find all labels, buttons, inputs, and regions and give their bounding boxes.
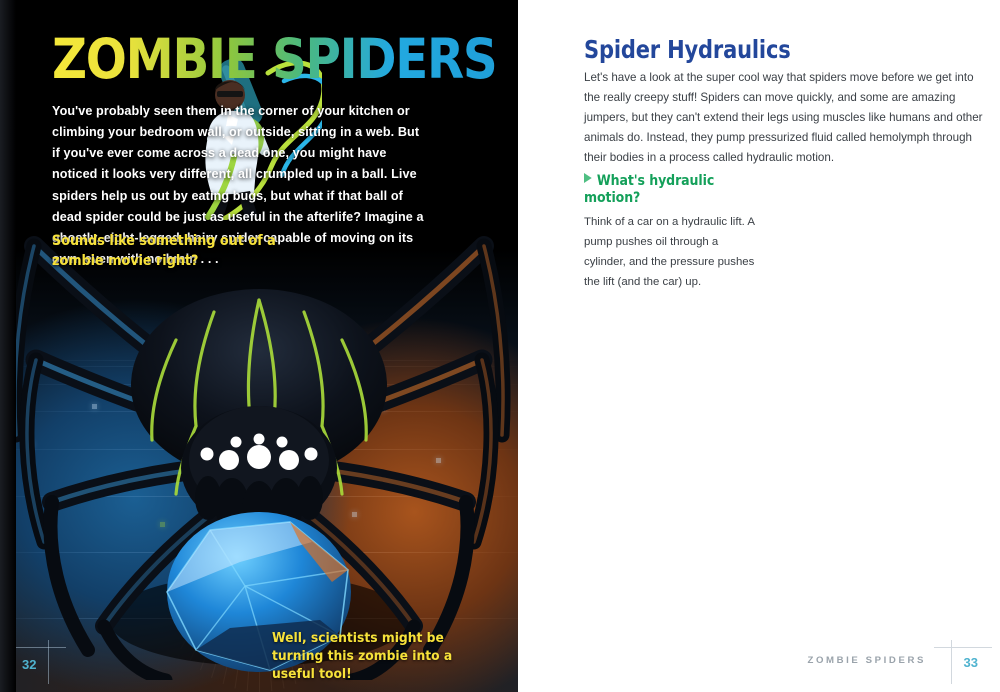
crop-mark-horizontal-left (8, 647, 66, 648)
section-1-body: Think of a car on a hydraulic lift. A pu… (584, 213, 760, 292)
left-callout-text: Sounds like something out of a zombie mo… (52, 231, 286, 271)
book-spread: ZOMBIE SPIDERS You've probably seen them… (0, 0, 1000, 692)
section-heading-spider-hydraulics: Spider Hydraulics (584, 35, 791, 64)
left-image-caption: Well, scientists might be turning this z… (272, 630, 484, 685)
page-number-right: 33 (964, 655, 978, 670)
crop-mark-horizontal-right (934, 647, 992, 648)
triangle-bullet-icon (584, 173, 592, 183)
right-intro-text: Let's have a look at the super cool way … (584, 68, 984, 168)
section-whats-hydraulic-motion: What's hydraulic motion? Think of a car … (584, 172, 760, 293)
subheading-1: What's hydraulic motion? (584, 172, 735, 206)
page-title: ZOMBIE SPIDERS (52, 32, 496, 87)
right-page: Spider Hydraulics Let's have a look at t… (518, 0, 1000, 692)
book-gutter-shadow (0, 0, 16, 692)
left-page: ZOMBIE SPIDERS You've probably seen them… (0, 0, 518, 692)
running-footer: ZOMBIE SPIDERS (808, 655, 927, 666)
page-number-left: 32 (22, 657, 36, 672)
subheading-1-label: What's hydraulic motion? (584, 172, 714, 206)
